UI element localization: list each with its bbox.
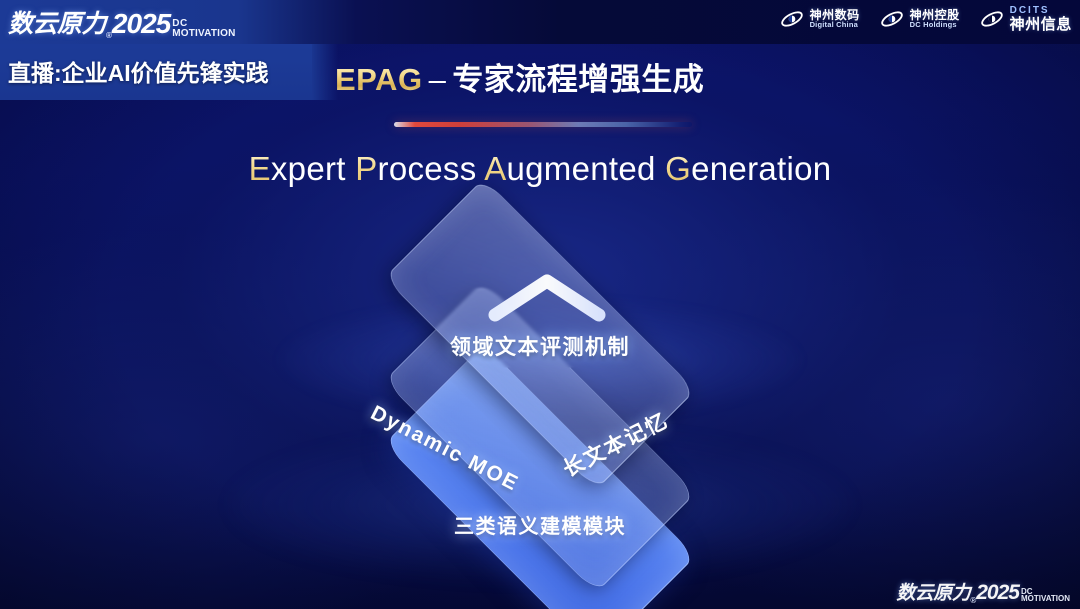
english-word-augmented: Augmented [484, 150, 656, 187]
partner-name-cn: 神州信息 [1010, 17, 1072, 33]
swirl-logo-icon [879, 6, 905, 32]
english-word-process: Process [355, 150, 476, 187]
partner-dcits: DCITS 神州信息 [979, 6, 1072, 32]
partner-labels: DCITS 神州信息 [1010, 6, 1072, 32]
watermark-name-cn: 数云原力 [896, 578, 970, 605]
partner-logos: 神州数码 Digital China 神州控股 DC Holdings [779, 6, 1072, 32]
brand-name-cn: 数云原力 [8, 4, 106, 40]
brand-logo: 数云原力 ® 2025 DC MOTIVATION [8, 4, 236, 40]
slide-stage: 领域文本评测机制 Dynamic MOE 长文本记忆 三类语义建模模块 EPAG… [0, 0, 1080, 609]
partner-name-en: DC Holdings [910, 21, 960, 29]
watermark-dc-motivation: DC MOTIVATION [1021, 588, 1070, 603]
headline-divider [394, 122, 692, 127]
english-word-generation: Generation [665, 150, 831, 187]
watermark-logo: 数云原力 ® 2025 DC MOTIVATION [896, 578, 1070, 605]
headline-chinese: 专家流程增强生成 [452, 62, 704, 97]
swirl-logo-icon [779, 6, 805, 32]
brand-dc-line2: MOTIVATION [172, 29, 235, 39]
watermark-dc-line2: MOTIVATION [1021, 595, 1070, 603]
partner-dc-holdings: 神州控股 DC Holdings [879, 6, 960, 32]
brand-year: 2025 [112, 8, 170, 40]
english-title: Expert Process Augmented Generation [0, 150, 1080, 188]
live-subtitle: 直播:企业AI价值先锋实践 [8, 54, 269, 88]
english-word-expert: Expert [249, 150, 346, 187]
partner-labels: 神州数码 Digital China [810, 9, 860, 29]
layer-top-label: 领域文本评测机制 [0, 331, 1080, 361]
partner-name-en: Digital China [810, 21, 860, 29]
partner-labels: 神州控股 DC Holdings [910, 9, 960, 29]
swirl-logo-icon [979, 6, 1005, 32]
headline-acronym: EPAG [335, 62, 423, 97]
partner-name-en: DCITS [1010, 6, 1072, 17]
watermark-year: 2025 [976, 581, 1019, 605]
layer-bottom-label: 三类语义建模模块 [0, 510, 1080, 539]
partner-digital-china: 神州数码 Digital China [779, 6, 860, 32]
chevron-up-icon [486, 272, 608, 324]
slide-headline: EPAG–专家流程增强生成 [335, 54, 704, 99]
headline-dash: – [429, 62, 447, 97]
brand-dc-motivation: DC MOTIVATION [172, 19, 235, 38]
